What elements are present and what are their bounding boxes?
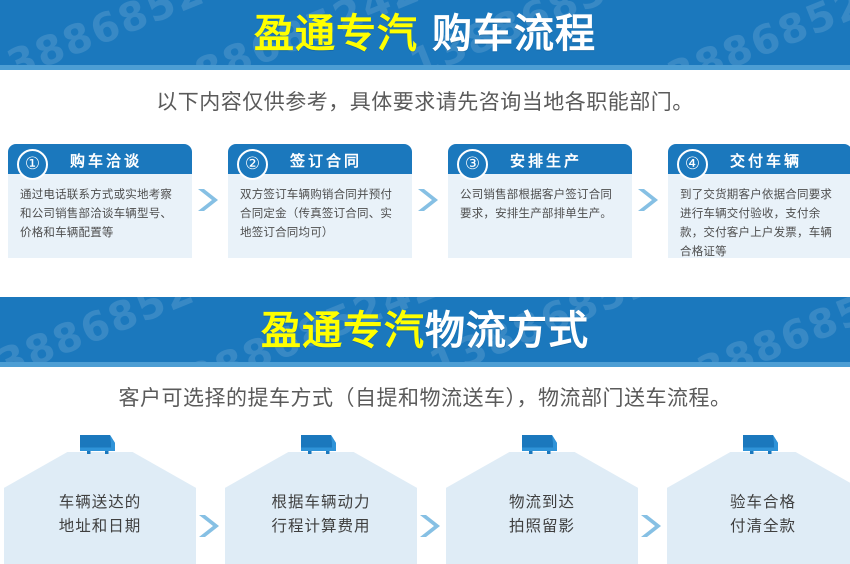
logistics-step-4-line1: 验车合格 bbox=[667, 490, 850, 514]
logistics-step-2[interactable]: 根据车辆动力 行程计算费用 bbox=[225, 430, 417, 564]
logistics-step-1-label: 车辆送达的 地址和日期 bbox=[4, 490, 196, 538]
step-card-4-title: 交付车辆 bbox=[730, 150, 802, 171]
step-card-2[interactable]: 签订合同 ② 双方签订车辆购销合同并预付合同定金（传真签订合同、实地签订合同均可… bbox=[228, 144, 412, 258]
banner-brand: 盈通专汽 bbox=[261, 308, 425, 354]
logistics-step-3-line2: 拍照留影 bbox=[446, 514, 638, 538]
logistics-step-3-label: 物流到达 拍照留影 bbox=[446, 490, 638, 538]
logistics-step-4[interactable]: 验车合格 付清全款 bbox=[667, 430, 850, 564]
banner-title: 盈通专汽物流方式 bbox=[0, 297, 850, 351]
step-card-4-body: 到了交货期客户依据合同要求进行车辆交付验收，支付余款，交付客户上户发票，车辆合格… bbox=[668, 174, 850, 258]
banner-logistics: 13886852428 13886852428 13886852428 1388… bbox=[0, 297, 850, 367]
chevron-right-icon-2 bbox=[415, 186, 439, 214]
step-number-badge-2: ② bbox=[237, 149, 268, 180]
step-card-4[interactable]: 交付车辆 ④ 到了交货期客户依据合同要求进行车辆交付验收，支付余款，交付客户上户… bbox=[668, 144, 850, 258]
banner-heading: 物流方式 bbox=[425, 308, 589, 354]
purchase-steps-row: 购车洽谈 ① 通过电话联系方式或实地考察和公司销售部洽谈车辆型号、价格和车辆配置… bbox=[0, 144, 850, 259]
logistics-step-1-line1: 车辆送达的 bbox=[4, 490, 196, 514]
logistics-step-4-line2: 付清全款 bbox=[667, 514, 850, 538]
step-card-3[interactable]: 安排生产 ③ 公司销售部根据客户签订合同要求，安排生产部排单生产。 bbox=[448, 144, 632, 258]
banner-underline bbox=[0, 65, 850, 70]
chevron-right-icon-4 bbox=[196, 512, 220, 540]
logistics-step-2-line1: 根据车辆动力 bbox=[225, 490, 417, 514]
step-number-badge-1: ① bbox=[17, 149, 48, 180]
step-card-2-body: 双方签订车辆购销合同并预付合同定金（传真签订合同、实地签订合同均可） bbox=[228, 174, 412, 258]
logistics-steps-row: 车辆送达的 地址和日期 根据车辆动力 行程计算费用 bbox=[0, 430, 850, 564]
truck-icon bbox=[518, 432, 566, 458]
logistics-step-1-line2: 地址和日期 bbox=[4, 514, 196, 538]
chevron-right-icon-6 bbox=[638, 512, 662, 540]
step-card-1-title: 购车洽谈 bbox=[70, 150, 142, 171]
step-card-1-body: 通过电话联系方式或实地考察和公司销售部洽谈车辆型号、价格和车辆配置等 bbox=[8, 174, 192, 258]
banner-underline bbox=[0, 362, 850, 367]
chevron-right-icon-3 bbox=[635, 186, 659, 214]
banner-heading: 购车流程 bbox=[432, 11, 596, 57]
truck-icon bbox=[739, 432, 787, 458]
logistics-step-3[interactable]: 物流到达 拍照留影 bbox=[446, 430, 638, 564]
logistics-step-2-label: 根据车辆动力 行程计算费用 bbox=[225, 490, 417, 538]
promo-page: 13886852428 13886852428 13886852428 1388… bbox=[0, 0, 850, 564]
purchase-subtitle: 以下内容仅供参考，具体要求请先咨询当地各职能部门。 bbox=[0, 86, 850, 116]
step-card-2-title: 签订合同 bbox=[290, 150, 362, 171]
step-card-2-desc: 双方签订车辆购销合同并预付合同定金（传真签订合同、实地签订合同均可） bbox=[240, 185, 400, 242]
banner-brand: 盈通专汽 bbox=[254, 11, 418, 57]
step-card-3-body: 公司销售部根据客户签订合同要求，安排生产部排单生产。 bbox=[448, 174, 632, 258]
step-card-4-desc: 到了交货期客户依据合同要求进行车辆交付验收，支付余款，交付客户上户发票，车辆合格… bbox=[680, 185, 840, 261]
banner-title: 盈通专汽 购车流程 bbox=[0, 0, 850, 54]
truck-icon bbox=[76, 432, 124, 458]
logistics-step-3-line1: 物流到达 bbox=[446, 490, 638, 514]
logistics-subtitle: 客户可选择的提车方式（自提和物流送车），物流部门送车流程。 bbox=[0, 382, 850, 412]
step-card-1-desc: 通过电话联系方式或实地考察和公司销售部洽谈车辆型号、价格和车辆配置等 bbox=[20, 185, 180, 242]
banner-purchase-process: 13886852428 13886852428 13886852428 1388… bbox=[0, 0, 850, 70]
truck-icon bbox=[297, 432, 345, 458]
chevron-right-icon-1 bbox=[195, 186, 219, 214]
step-card-3-desc: 公司销售部根据客户签订合同要求，安排生产部排单生产。 bbox=[460, 185, 620, 223]
chevron-right-icon-5 bbox=[417, 512, 441, 540]
logistics-step-1[interactable]: 车辆送达的 地址和日期 bbox=[4, 430, 196, 564]
step-card-3-title: 安排生产 bbox=[510, 150, 582, 171]
step-card-1[interactable]: 购车洽谈 ① 通过电话联系方式或实地考察和公司销售部洽谈车辆型号、价格和车辆配置… bbox=[8, 144, 192, 258]
logistics-step-4-label: 验车合格 付清全款 bbox=[667, 490, 850, 538]
step-number-badge-4: ④ bbox=[677, 149, 708, 180]
logistics-step-2-line2: 行程计算费用 bbox=[225, 514, 417, 538]
step-number-badge-3: ③ bbox=[457, 149, 488, 180]
